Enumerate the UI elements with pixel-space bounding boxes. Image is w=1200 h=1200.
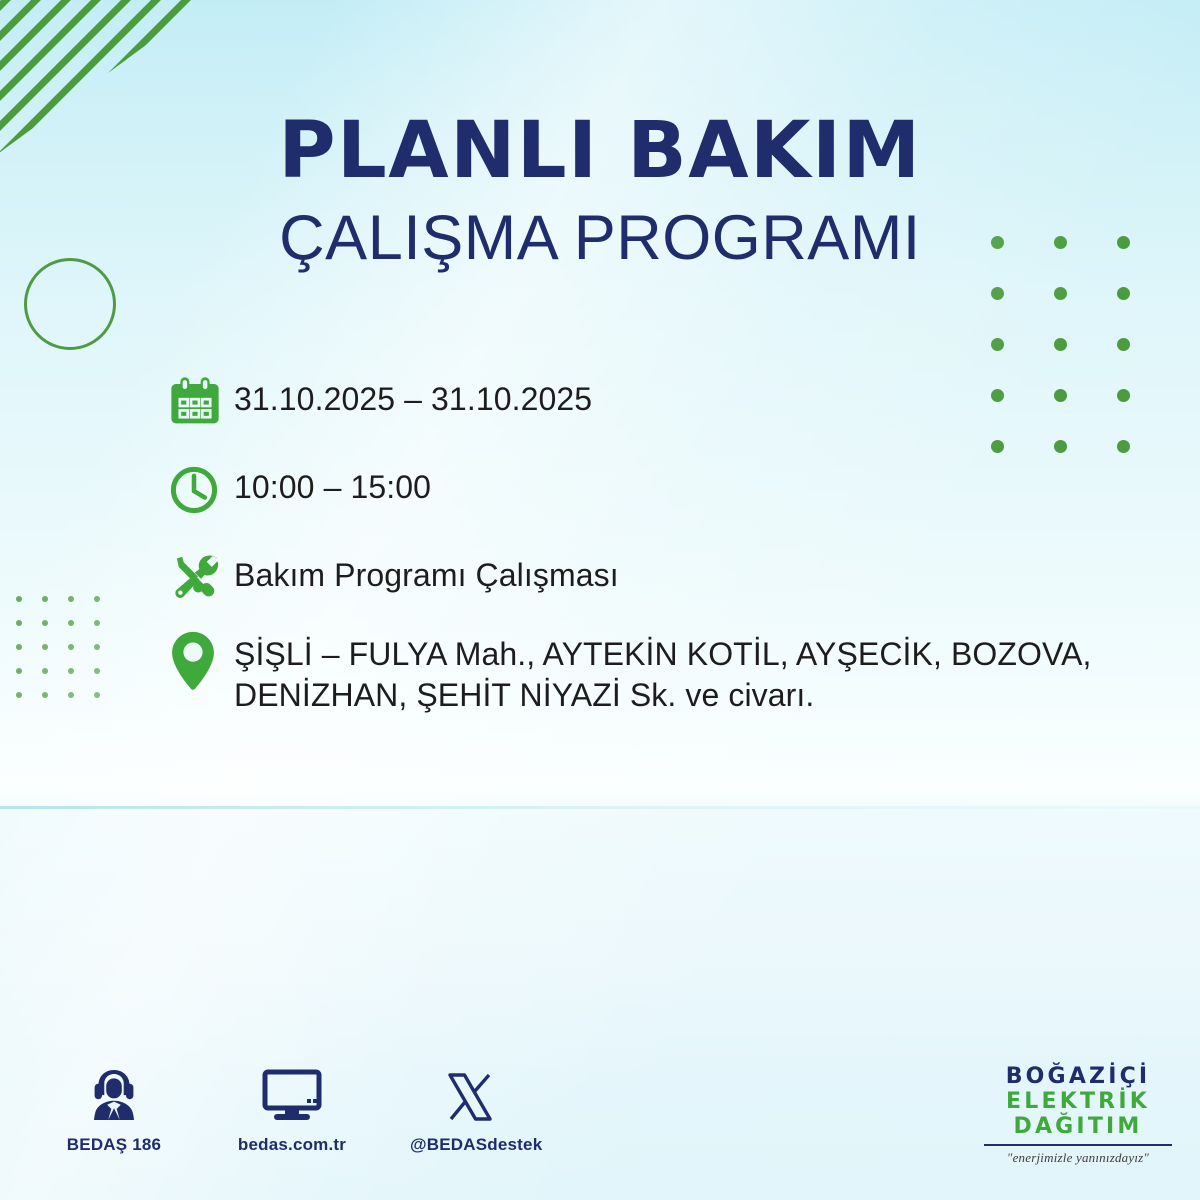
contact-channels: BEDAŞ 186 bedas.com.tr xyxy=(54,1060,530,1155)
date-range-value: 31.10.2025 – 31.10.2025 xyxy=(234,372,592,420)
poster-canvas: PLANLI BAKIM ÇALIŞMA PROGRAMI xyxy=(0,0,1200,1200)
channel-label: @BEDASdestek xyxy=(410,1135,530,1155)
work-type-value: Bakım Programı Çalışması xyxy=(234,548,619,596)
brand-divider xyxy=(984,1144,1172,1146)
detail-row-date: 31.10.2025 – 31.10.2025 xyxy=(168,372,1178,432)
channel-website[interactable]: bedas.com.tr xyxy=(232,1060,352,1155)
brand-logo: BOĞAZİÇİ ELEKTRİK DAĞITIM "enerjimizle y… xyxy=(978,1064,1178,1166)
x-twitter-icon xyxy=(410,1060,530,1124)
location-value: ŞİŞLİ – FULYA Mah., AYTEKİN KOTİL, AYŞEC… xyxy=(234,632,1178,716)
support-agent-headset-icon xyxy=(54,1060,174,1124)
footer: BEDAŞ 186 bedas.com.tr xyxy=(0,1056,1200,1186)
brand-line-1: BOĞAZİÇİ xyxy=(978,1064,1178,1089)
dot-grid-left-decoration xyxy=(16,596,120,716)
brand-line-2: ELEKTRİK xyxy=(978,1089,1178,1114)
channel-call-center[interactable]: BEDAŞ 186 xyxy=(54,1060,174,1155)
channel-label: bedas.com.tr xyxy=(232,1135,352,1155)
title-subtitle: ÇALIŞMA PROGRAMI xyxy=(0,202,1200,274)
brand-tagline: "enerjimizle yanınızdayız" xyxy=(978,1150,1178,1166)
channel-x-account[interactable]: @BEDASdestek xyxy=(410,1060,530,1155)
map-pin-icon xyxy=(168,632,234,692)
time-range-value: 10:00 – 15:00 xyxy=(234,460,431,508)
page-title: PLANLI BAKIM ÇALIŞMA PROGRAMI xyxy=(0,112,1200,274)
outage-details: 31.10.2025 – 31.10.2025 10:00 – 15:00 xyxy=(168,372,1178,716)
monitor-icon xyxy=(232,1060,352,1124)
channel-label: BEDAŞ 186 xyxy=(54,1135,174,1155)
detail-row-location: ŞİŞLİ – FULYA Mah., AYTEKİN KOTİL, AYŞEC… xyxy=(168,632,1178,716)
detail-row-work-type: Bakım Programı Çalışması xyxy=(168,548,1178,608)
background-band-divider xyxy=(0,806,1200,809)
title-main: PLANLI BAKIM xyxy=(0,112,1200,190)
detail-row-time: 10:00 – 15:00 xyxy=(168,460,1178,520)
clock-icon xyxy=(168,460,234,520)
tools-icon xyxy=(168,548,234,608)
brand-line-3: DAĞITIM xyxy=(978,1114,1178,1139)
calendar-icon xyxy=(168,372,234,432)
